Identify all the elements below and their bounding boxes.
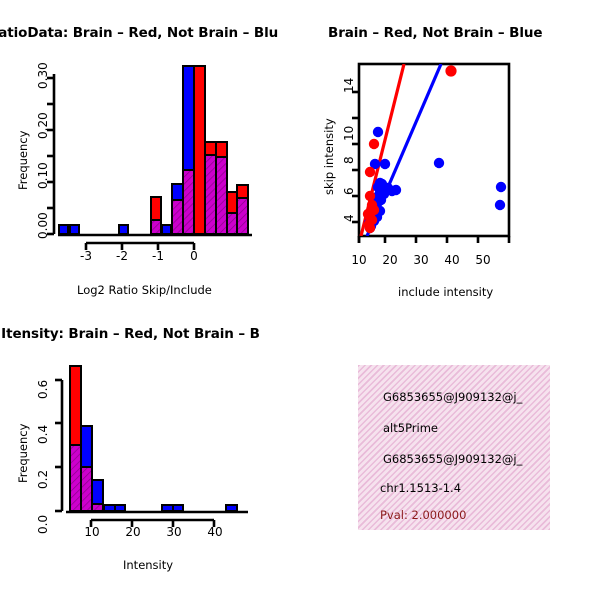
scatter-points-brain [363,65,457,233]
ratio-histogram-bars [59,66,248,234]
info-line-event-type: alt5Prime [383,421,438,435]
info-line-pval: Pval: 2.000000 [380,508,466,522]
info-line-gene-id: G6853655@J909132@j_ [383,390,522,404]
panel-intensity-histogram: ne Itensity: Brain – Red, Not Brain – B … [0,300,300,600]
panel-ratio-histogram: RatioData: Brain – Red, Not Brain – Blu … [0,0,300,300]
scatter-canvas [300,0,600,300]
info-line-gene-id-2: G6853655@J909132@j_ [383,452,522,466]
annotation-box: G6853655@J909132@j_ alt5Prime G6853655@J… [358,365,550,530]
intensity-histogram-canvas [0,300,300,600]
panel-scatter: Brain – Red, Not Brain – Blue skip inten… [300,0,600,300]
intensity-histogram-bars [70,366,237,511]
ratio-histogram-canvas [0,0,300,300]
panel-info: G6853655@J909132@j_ alt5Prime G6853655@J… [300,300,600,600]
info-line-coordinates: chr1.1513-1.4 [380,481,461,495]
